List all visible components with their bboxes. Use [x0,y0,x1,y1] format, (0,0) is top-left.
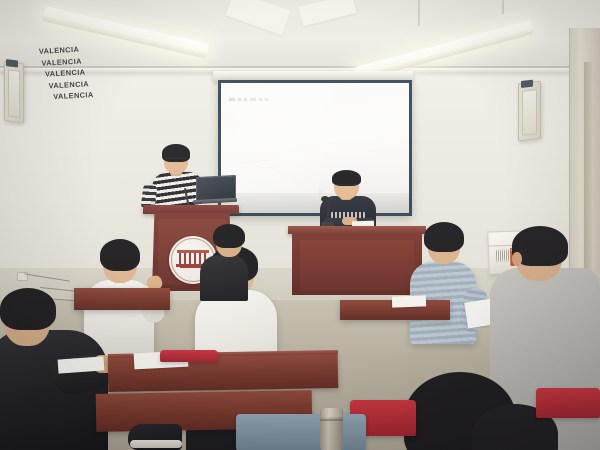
audience-3-torso [200,255,248,301]
audience-1-hair [100,239,140,271]
light-hanger-2 [502,0,504,14]
thermos-band [320,419,343,421]
screen-lower-shadow [221,193,409,213]
shoe-sole [130,440,182,448]
projection-screen-surface [221,83,409,213]
chair-back-red-1[interactable] [160,350,218,362]
audience-4-hair [0,288,56,330]
speaker-grille-right [522,89,537,136]
classroom-presentation-photo: dahua VALENCIA VALE [0,0,600,450]
desk-row-far[interactable] [74,288,170,310]
chair-back-blue[interactable] [236,414,366,450]
audience-5-hair [424,222,464,252]
paper-on-desk-right[interactable] [392,295,426,307]
box-barcode-icon [496,249,509,262]
chair-back-red-3[interactable] [536,388,600,418]
audience-3-hair [213,224,245,248]
wall-speaker-left [4,61,24,123]
speaker-bracket-left [6,59,18,67]
valencia-shirt-text: VALENCIA VALENCIA VALENCIA VALENCIA VALE… [39,42,112,104]
light-hanger-1 [418,0,420,26]
speaker-bracket-right [521,80,533,88]
wall-speaker-right [518,81,541,142]
lectern-top [143,205,239,214]
seated-person-glasses-icon [336,184,357,189]
head-table-front-panel [300,240,414,290]
thermos-bottle[interactable] [320,408,343,450]
speaker-grille-left [8,69,20,117]
thermos-lid [321,408,342,417]
audience-6-ear [512,252,522,266]
presenter-glasses-icon [166,158,186,163]
projection-screen[interactable] [218,80,412,216]
